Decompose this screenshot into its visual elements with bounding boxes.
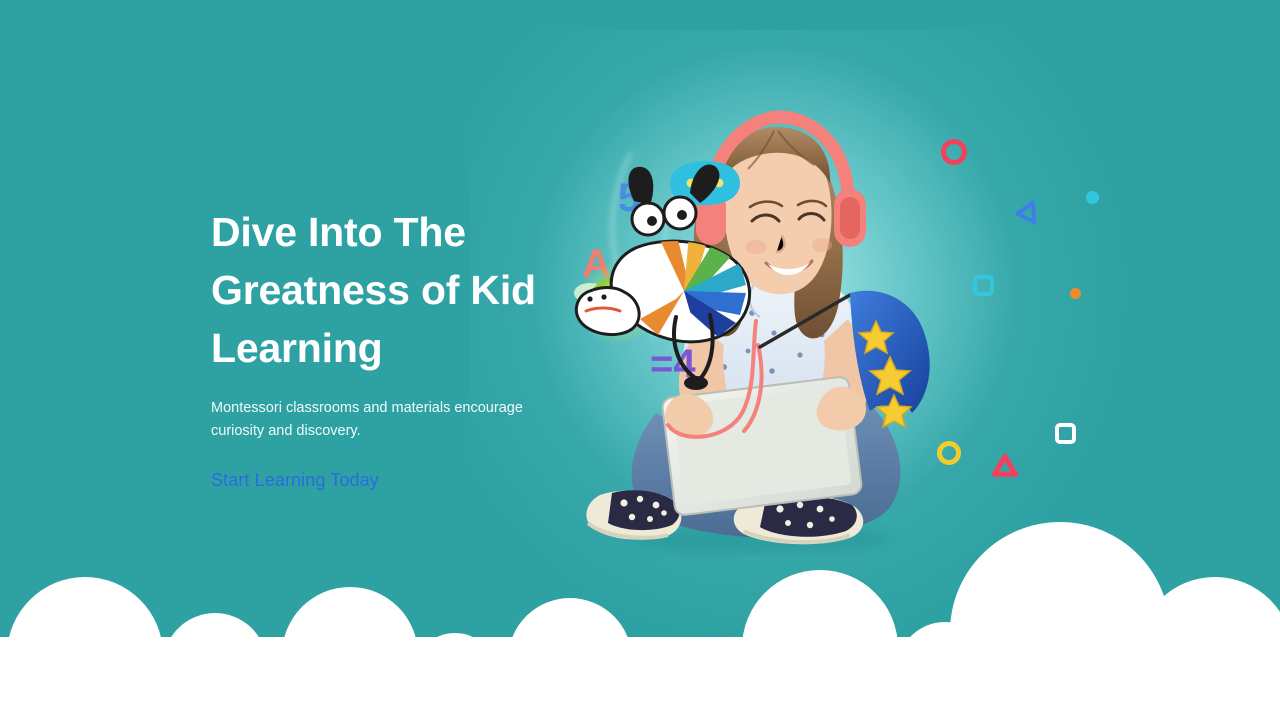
hero-section: 5 A 2+2 =4 xyxy=(0,0,1280,707)
blue-triangle-outline xyxy=(1012,199,1040,227)
start-learning-link[interactable]: Start Learning Today xyxy=(211,470,379,491)
hero-copy: Dive Into The Greatness of Kid Learning … xyxy=(211,203,611,491)
white-square-outline xyxy=(1055,423,1076,444)
cloud-band xyxy=(0,507,1280,707)
pink-triangle-outline xyxy=(991,452,1019,480)
cyan-dot xyxy=(1086,191,1099,204)
pink-circle-outline xyxy=(941,139,967,165)
yellow-circle-outline xyxy=(937,441,961,465)
hero-illustration: 5 A 2+2 =4 xyxy=(560,95,980,565)
page-title: Dive Into The Greatness of Kid Learning xyxy=(211,203,611,377)
hero-subtitle: Montessori classrooms and materials enco… xyxy=(211,397,546,443)
cyan-square-outline xyxy=(973,275,994,296)
orange-dot xyxy=(1070,288,1081,299)
cloud-shape xyxy=(0,522,1280,707)
